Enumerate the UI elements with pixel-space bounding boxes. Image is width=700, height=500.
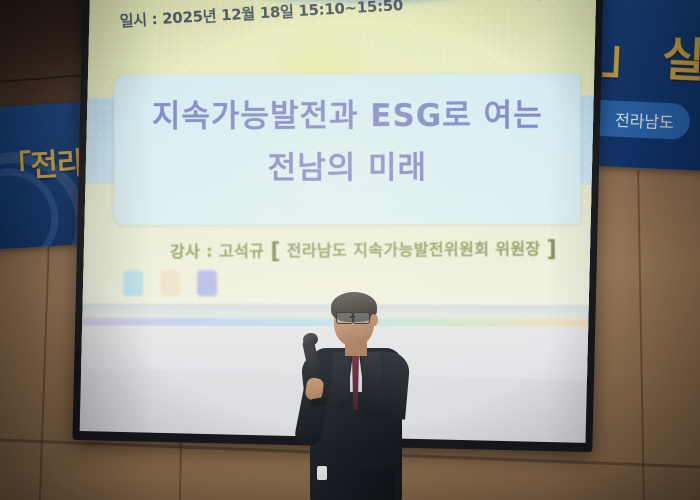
wall-lighting-overlay (0, 0, 700, 500)
photo-scene: 「전라남도 202 획」 실 전라남도 전라남도 지속가... 일시 : 202… (0, 0, 700, 500)
